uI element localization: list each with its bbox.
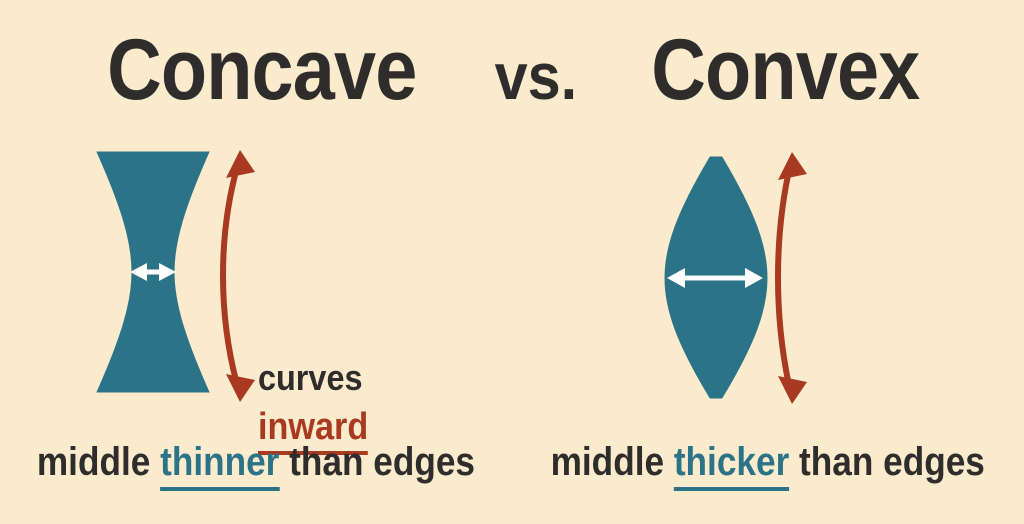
infographic-canvas: Concave vs. Convex curves inward <box>0 0 1024 524</box>
convex-caption-emphasis: thicker <box>674 440 789 491</box>
concave-caption-prefix: middle <box>37 440 160 484</box>
title-convex: Convex <box>652 27 920 113</box>
concave-caption: middle thinner than edges <box>0 442 512 482</box>
title-concave: Concave <box>107 27 416 113</box>
red-double-arrow-arc-inward <box>223 150 255 402</box>
concave-caption-suffix: than edges <box>279 440 475 484</box>
red-double-arrow-arc-outward <box>778 152 807 404</box>
convex-panel: curves outward <box>512 138 1024 416</box>
concave-panel: curves inward <box>0 138 512 416</box>
convex-caption: middle thicker than edges <box>512 442 1024 482</box>
title-row: Concave vs. Convex <box>0 18 1024 122</box>
convex-caption-suffix: than edges <box>790 440 986 484</box>
title-separator-vs: vs. <box>494 43 577 109</box>
concave-caption-emphasis: thinner <box>160 440 279 491</box>
convex-lens-diagram <box>512 138 1024 416</box>
convex-caption-prefix: middle <box>551 440 674 484</box>
concave-callout-curves: curves <box>258 360 362 396</box>
concave-lens-diagram <box>0 138 512 416</box>
